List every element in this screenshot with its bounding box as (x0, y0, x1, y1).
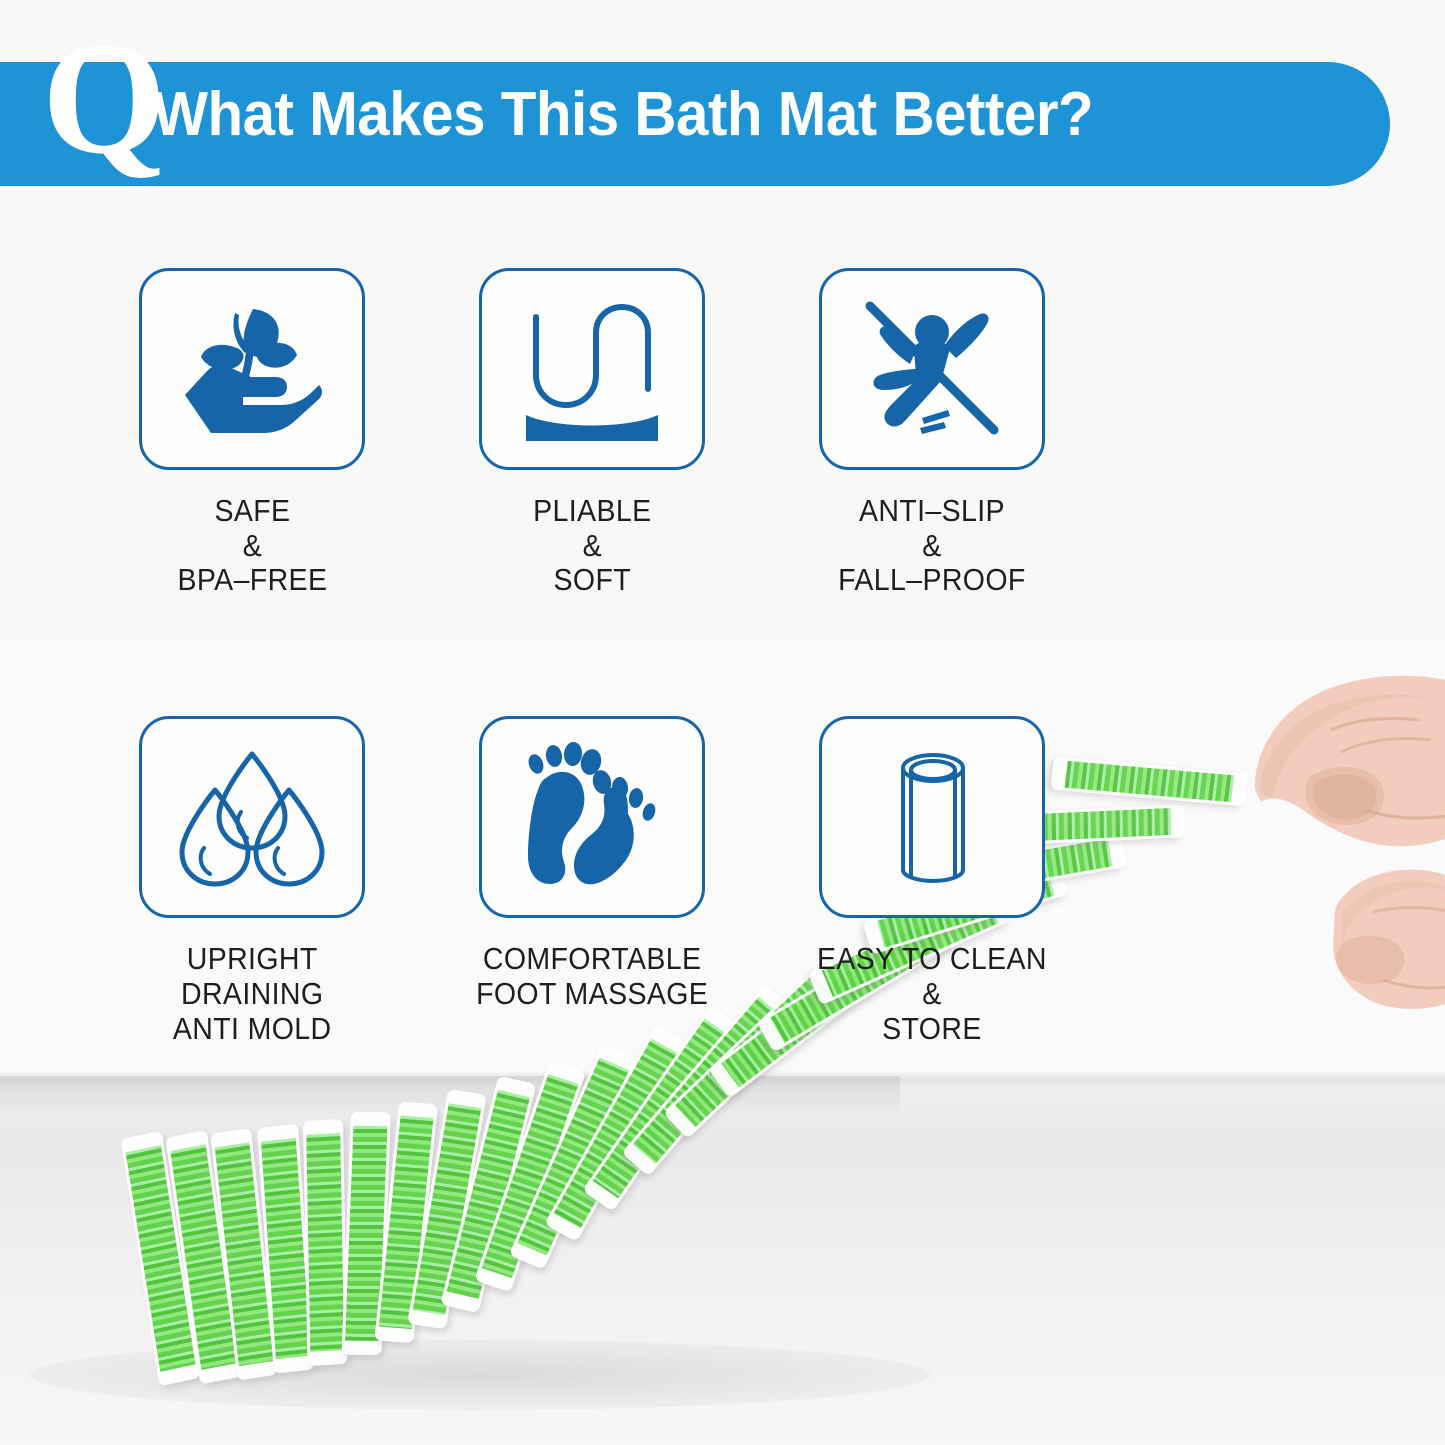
no-slip-falling-person-icon (856, 294, 1008, 444)
icon-box-anti-slip (819, 268, 1045, 470)
icon-box-foot-massage (479, 716, 705, 918)
icon-box-safe (139, 268, 365, 470)
page-title: :What Makes This Bath Mat Better? (134, 84, 1093, 146)
icon-box-easy-clean (819, 716, 1045, 918)
feature-grid: SAFE & BPA–FREE PLIABLE & SOFT (82, 268, 1102, 1046)
water-drops-icon (177, 742, 327, 892)
rolled-mat-cylinder-icon (857, 742, 1007, 892)
feature-label-draining: UPRIGHT DRAINING ANTI MOLD (173, 942, 332, 1046)
mat-strip-cap (303, 1119, 344, 1135)
pliable-bend-icon (516, 297, 668, 441)
feature-pliable-soft[interactable]: PLIABLE & SOFT (422, 268, 762, 598)
feature-row-1: SAFE & BPA–FREE PLIABLE & SOFT (82, 268, 1102, 598)
feature-row-2: UPRIGHT DRAINING ANTI MOLD (82, 716, 1102, 1046)
hand-lifting-mat (1135, 660, 1445, 1020)
icon-box-draining (139, 716, 365, 918)
feature-label-easy-clean: EASY TO CLEAN & STORE (817, 942, 1047, 1046)
mat-strip-cap (342, 1341, 382, 1355)
mat-strip-cap (1170, 804, 1184, 838)
mat-strip-texture (307, 1124, 346, 1360)
feature-label-anti-slip: ANTI–SLIP & FALL–PROOF (838, 494, 1026, 598)
hand-holding-plant-icon (177, 299, 327, 439)
icon-box-pliable (479, 268, 705, 470)
feature-upright-draining[interactable]: UPRIGHT DRAINING ANTI MOLD (82, 716, 422, 1046)
mat-strip-cap (375, 1327, 416, 1344)
feature-label-pliable: PLIABLE & SOFT (533, 494, 651, 598)
feature-safe-bpa-free[interactable]: SAFE & BPA–FREE (82, 268, 422, 598)
feature-foot-massage[interactable]: COMFORTABLE FOOT MASSAGE (422, 716, 762, 1046)
mat-strip-cap (350, 1112, 390, 1126)
feature-easy-clean-store[interactable]: EASY TO CLEAN & STORE (762, 716, 1102, 1046)
feature-anti-slip[interactable]: ANTI–SLIP & FALL–PROOF (762, 268, 1102, 598)
mat-strip-cap (398, 1102, 439, 1119)
footprints-icon (516, 742, 668, 892)
feature-label-safe: SAFE & BPA–FREE (177, 494, 327, 598)
hand-icon (1135, 660, 1445, 1020)
feature-label-foot-massage: COMFORTABLE FOOT MASSAGE (476, 942, 708, 1011)
question-mark-badge: Q (42, 18, 162, 178)
